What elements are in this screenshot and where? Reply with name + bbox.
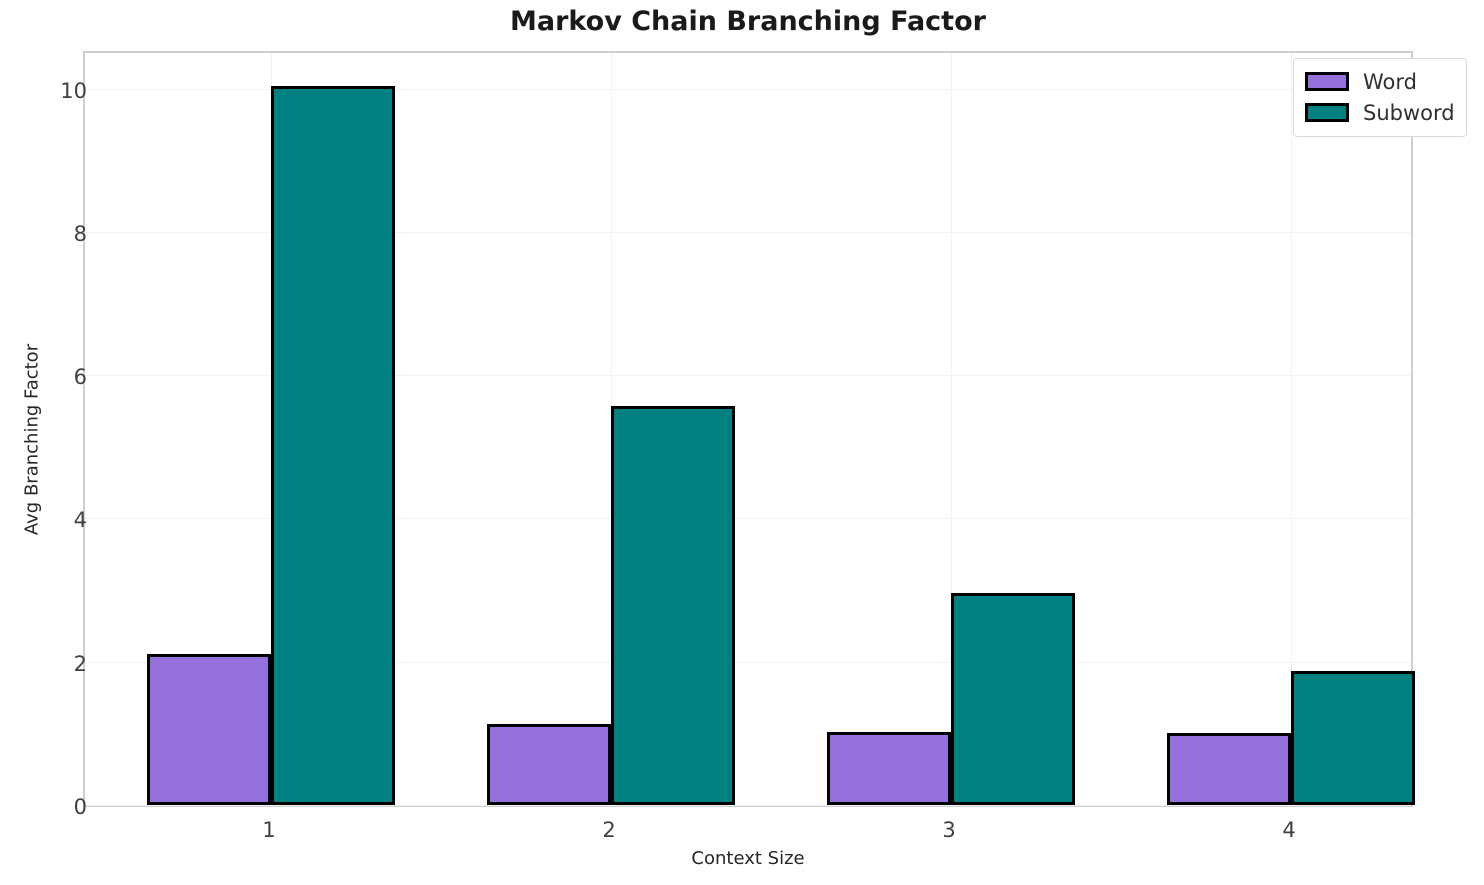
bar-subword-2[interactable] (611, 406, 735, 805)
bar-word-4[interactable] (1167, 733, 1291, 805)
x-tick-label-3: 3 (889, 818, 1009, 842)
bar-subword-1[interactable] (271, 86, 395, 805)
legend-swatch-word-icon (1305, 72, 1349, 91)
x-axis-label: Context Size (83, 848, 1413, 869)
chart-title: Markov Chain Branching Factor (83, 6, 1413, 37)
legend-item-word[interactable]: Word (1305, 66, 1455, 97)
plot-area: Word Subword (83, 51, 1413, 807)
bar-word-3[interactable] (827, 732, 951, 805)
x-tick-label-1: 1 (209, 818, 329, 842)
chart-legend: Word Subword (1293, 58, 1467, 137)
y-axis-label: Avg Branching Factor (22, 290, 43, 590)
bar-subword-3[interactable] (951, 593, 1075, 805)
gridline-y-0 (85, 805, 1411, 806)
y-tick-label-8: 8 (17, 222, 87, 246)
y-tick-label-2: 2 (17, 652, 87, 676)
legend-label-subword: Subword (1363, 101, 1455, 125)
legend-swatch-subword-icon (1305, 103, 1349, 122)
chart-figure: Markov Chain Branching Factor Word (0, 0, 1484, 885)
bar-subword-4[interactable] (1291, 671, 1415, 805)
legend-item-subword[interactable]: Subword (1305, 97, 1455, 128)
legend-label-word: Word (1363, 70, 1417, 94)
x-tick-label-2: 2 (549, 818, 669, 842)
y-tick-label-0: 0 (17, 795, 87, 819)
bar-word-2[interactable] (487, 724, 611, 805)
y-tick-label-10: 10 (17, 79, 87, 103)
bar-word-1[interactable] (147, 654, 271, 805)
x-tick-label-4: 4 (1229, 818, 1349, 842)
